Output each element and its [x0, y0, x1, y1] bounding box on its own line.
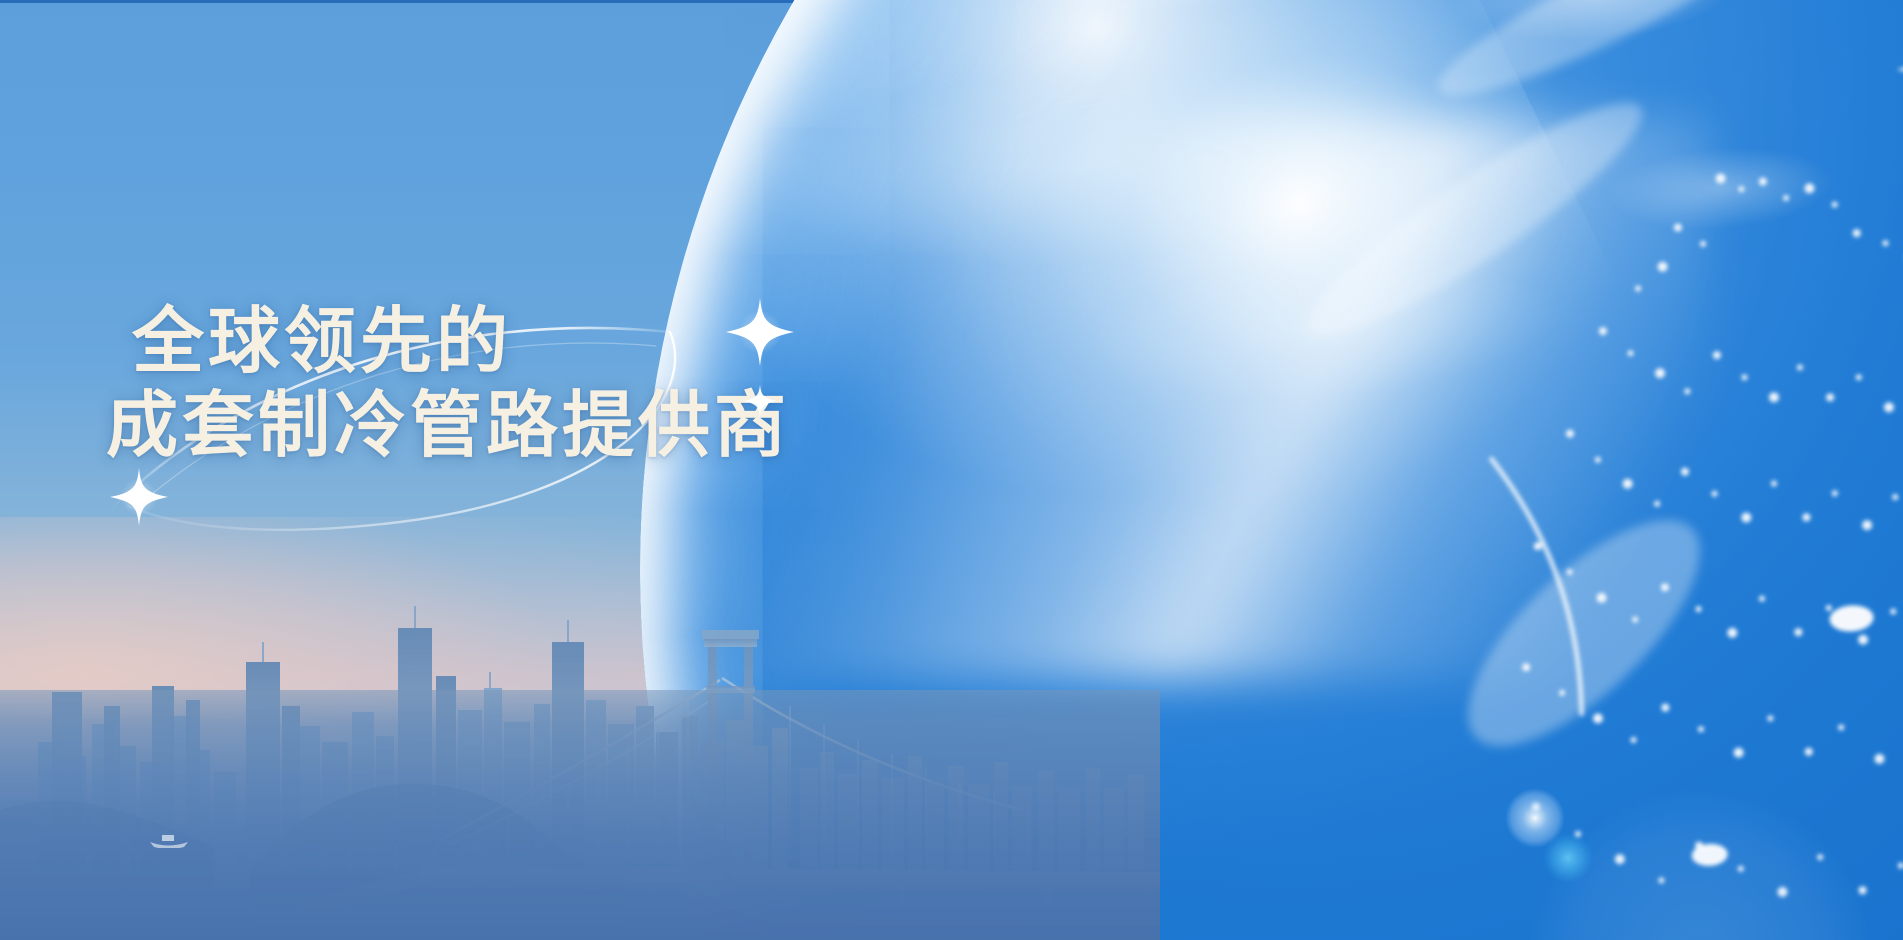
earth-globe — [564, 0, 1903, 940]
headline-line-1: 全球领先的 — [106, 300, 866, 384]
hero-banner: 全球领先的 成套制冷管路提供商 — [0, 0, 1903, 940]
headline-line-2: 成套制冷管路提供商 — [106, 384, 866, 468]
headline-block: 全球领先的 成套制冷管路提供商 — [106, 300, 866, 468]
earth-terminator-limb — [564, 0, 1903, 940]
